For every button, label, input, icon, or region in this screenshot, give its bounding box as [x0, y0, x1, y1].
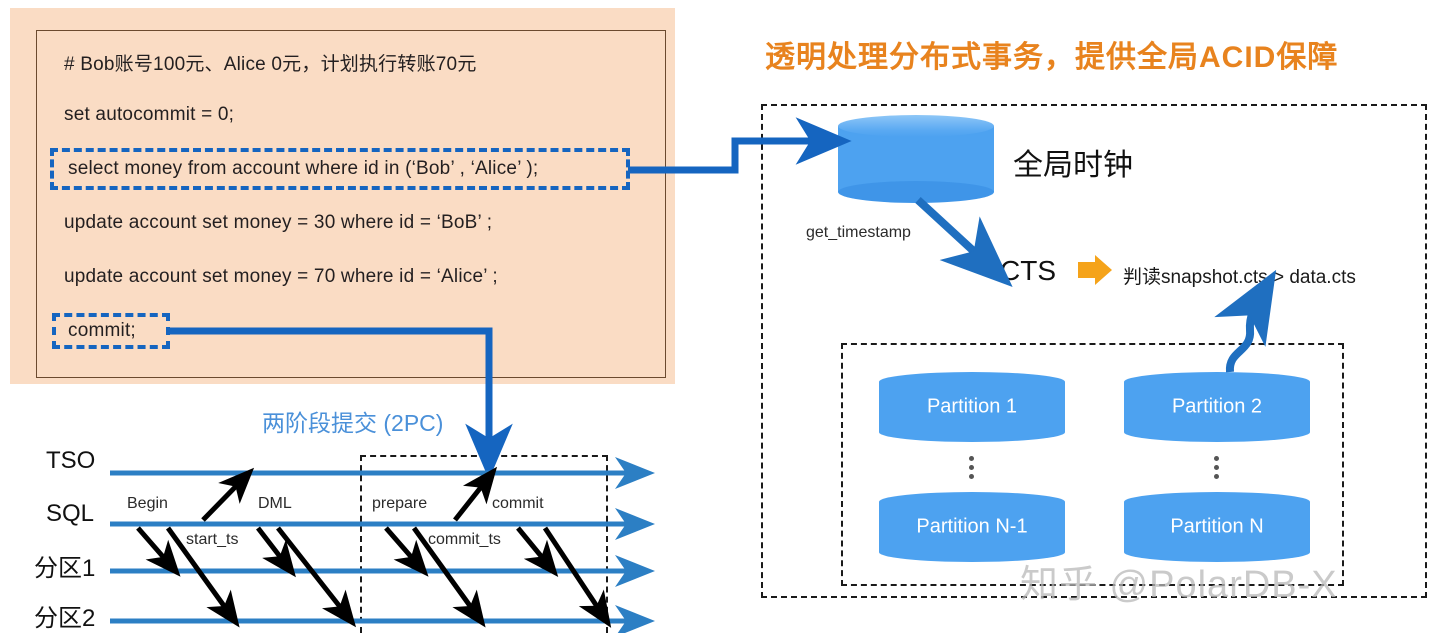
timeline-message-prepare: prepare: [372, 495, 427, 513]
partition-label: Partition 2: [1124, 396, 1310, 419]
timeline-message-dml: DML: [258, 495, 292, 513]
partition-cylinder-n: Partition N: [1124, 492, 1310, 562]
timeline-row-label-partition2: 分区2: [34, 598, 95, 633]
timeline-row-label-sql: SQL: [46, 500, 94, 528]
vertical-ellipsis-icon-left: [969, 452, 975, 483]
partition-label: Partition 1: [879, 396, 1065, 419]
global-clock-label: 全局时钟: [1013, 140, 1133, 184]
sql-comment-line: # Bob账号100元、Alice 0元，计划执行转账70元: [64, 49, 477, 76]
timeline-message-commit: commit: [492, 495, 544, 513]
two-phase-commit-title: 两阶段提交 (2PC): [262, 404, 443, 438]
cylinder-top: [838, 115, 994, 137]
snapshot-compare-label: 判读snapshot.cts > data.cts: [1123, 262, 1356, 289]
sql-autocommit-line: set autocommit = 0;: [64, 104, 234, 126]
partition-cylinder-1: Partition 1: [879, 372, 1065, 442]
watermark: 知乎 @PolarDB-X: [1020, 553, 1338, 608]
select-statement-highlight-box: [50, 148, 630, 190]
timeline-message-begin: Begin: [127, 495, 168, 513]
cts-label: CTS: [1000, 255, 1056, 287]
partition-label: Partition N-1: [879, 516, 1065, 539]
partition-cylinder-n-minus-1: Partition N-1: [879, 492, 1065, 562]
page-title: 透明处理分布式事务，提供全局ACID保障: [765, 32, 1425, 76]
partition-label: Partition N: [1124, 516, 1310, 539]
timeline-row-label-tso: TSO: [46, 447, 95, 475]
get-timestamp-label: get_timestamp: [806, 224, 911, 242]
timeline-message-start-ts: start_ts: [186, 531, 238, 549]
timeline-row-label-partition1: 分区1: [34, 548, 95, 583]
vertical-ellipsis-icon-right: [1214, 452, 1220, 483]
sql-update-alice-line: update account set money = 70 where id =…: [64, 266, 498, 288]
global-clock-cylinder-icon: [838, 115, 994, 203]
cylinder-bottom: [838, 181, 994, 203]
timeline-message-commit-ts: commit_ts: [428, 531, 501, 549]
sql-update-bob-line: update account set money = 30 where id =…: [64, 212, 492, 234]
commit-statement-highlight-box: [52, 313, 170, 349]
partition-cylinder-2: Partition 2: [1124, 372, 1310, 442]
